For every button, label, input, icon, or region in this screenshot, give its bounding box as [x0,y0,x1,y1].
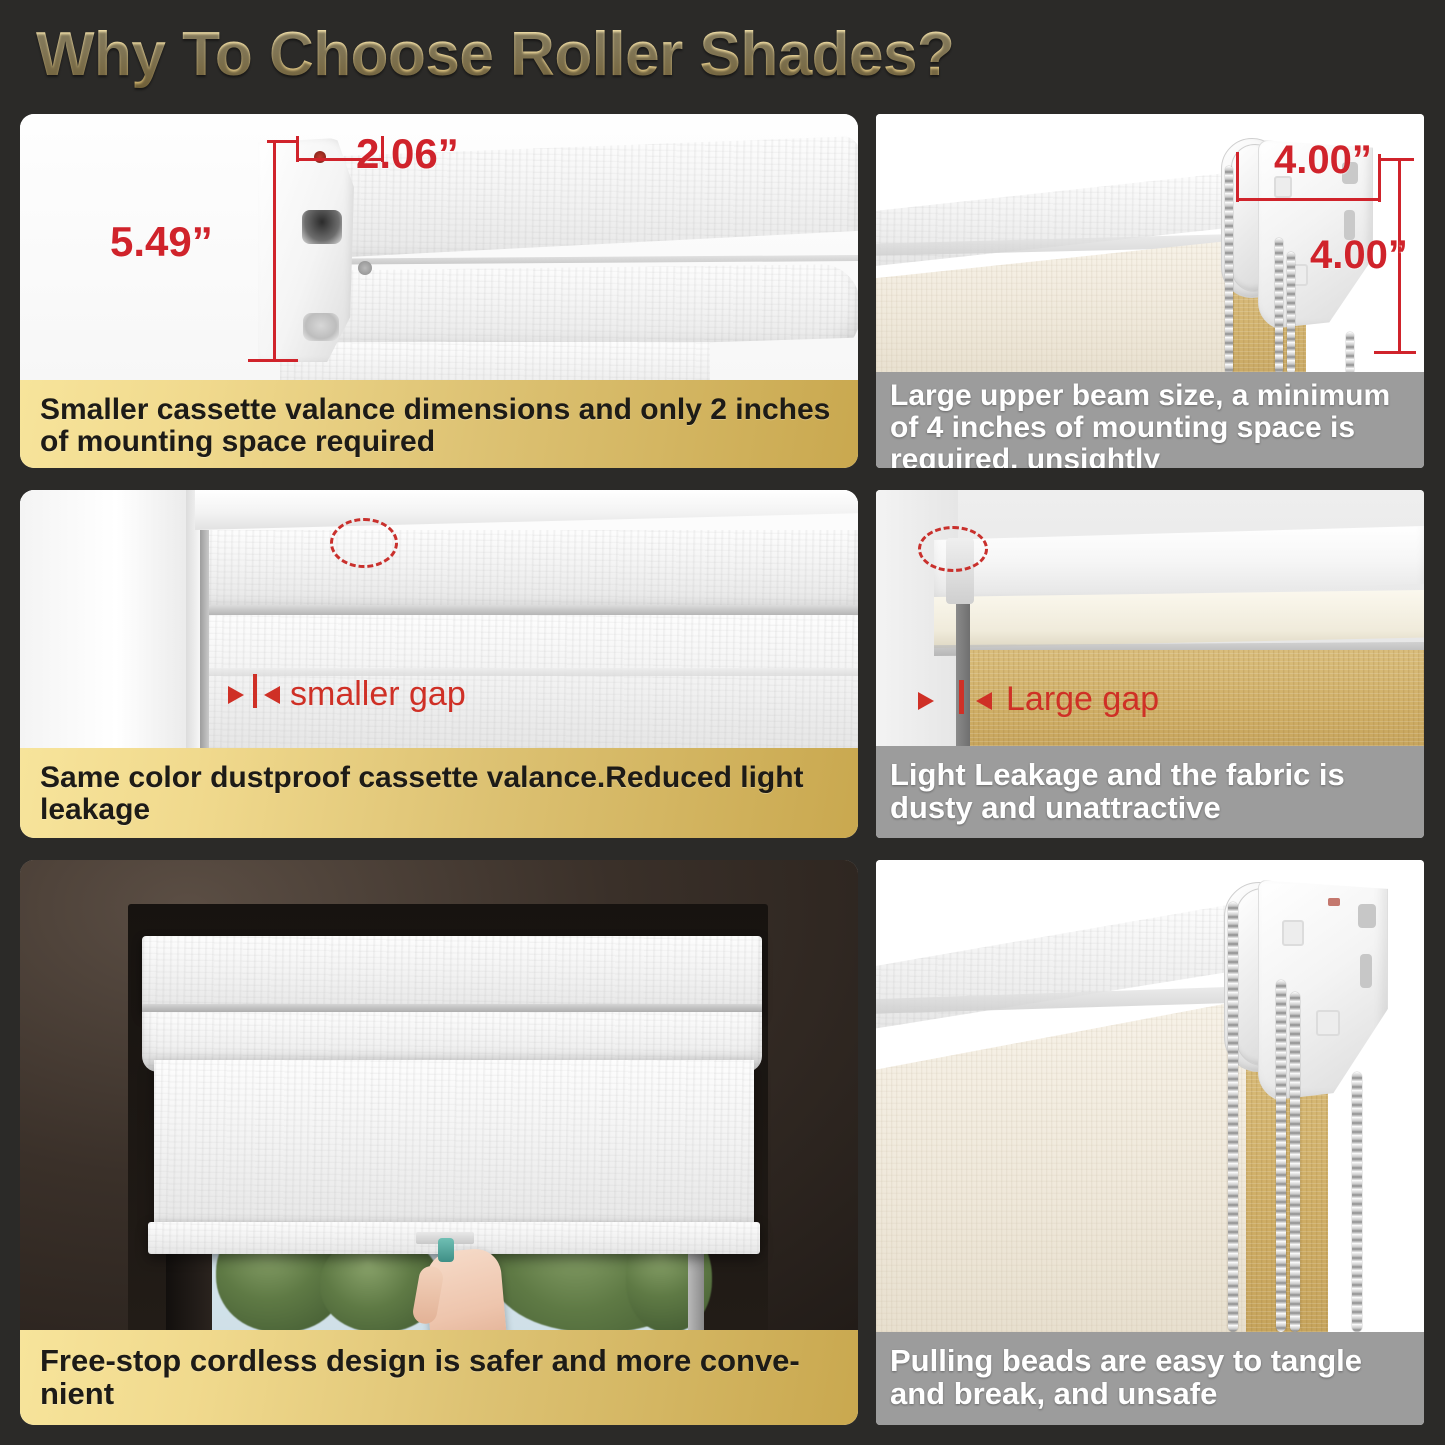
panel-pulling-beads: Pulling beads are easy to tangle and bre… [876,860,1424,1425]
gap-arrow-right-icon [976,692,992,710]
valance-headrail [142,936,762,1014]
bead-chain-middle [1275,238,1283,374]
bracket-screw-red [1328,898,1340,906]
bracket-slot-lower [303,313,339,341]
valance-bottom-edge [203,605,858,615]
beam-height-dimension-label: 4.00” [1310,233,1408,278]
pull-grip [438,1238,454,1262]
shade-fabric-cream [876,240,1238,374]
dustproof-valance-photo: smaller gap [20,490,858,748]
beam-height-tick-bottom [1374,351,1416,354]
gap-arrow-right-icon [264,686,280,704]
headrail-lip [934,590,1424,648]
bracket-keyhole-1 [1358,904,1376,928]
smaller-gap-label: smaller gap [290,675,466,714]
height-dim-line [273,140,276,362]
panel-dustproof-valance: smaller gap Same color dustproof cassett… [20,490,858,838]
window-frame-top [195,490,858,530]
height-dim-tick-top [267,140,297,143]
panel-light-leakage: Large gap Light Leakage and the fabric i… [876,490,1424,838]
bead-chain-middle-2 [1287,252,1295,374]
height-dimension-label: 5.49” [110,218,213,266]
beam-width-dim-line [1236,198,1381,201]
upper-beam-photo: 4.00” 4.00” [876,114,1424,374]
beam-width-dimension-label: 4.00” [1274,138,1372,183]
bracket-pin-top [314,151,326,163]
shade-fabric-main [154,1060,754,1232]
dashed-callout-circle [918,526,988,572]
panel-caption-dustproof-valance: Same color dustproof cassette valance.Re… [20,748,858,838]
page-title: Why To Choose Roller Shades? [36,16,1036,94]
panel-cordless-design: Free-stop cordless design is safer and m… [20,860,858,1425]
hanging-fabric [280,342,710,380]
shade-fabric-cream [876,998,1256,1332]
large-gap-label: Large gap [1006,680,1159,719]
panel-caption-cassette-dimensions: Smaller cassette valance dimensions and … [20,380,858,468]
bead-chain-middle-2 [1290,992,1300,1332]
bead-chain-middle-1 [1276,980,1286,1332]
panel-caption-large-upper-beam: Large upper beam size, a minimum of 4 in… [876,372,1424,468]
bracket-screw-middle [358,261,372,275]
bead-chain-left [1228,902,1238,1332]
infographic-page: Why To Choose Roller Shades? 2.06” [0,0,1445,1445]
bracket-keyhole-2 [1360,954,1372,988]
beam-height-tick-top [1380,158,1414,161]
light-leakage-photo: Large gap [876,490,1424,750]
height-dim-tick-bottom [248,359,298,362]
bracket-arrow-mark-1 [1282,920,1304,946]
gap-arrow-left-icon [228,686,244,704]
beam-width-tick-right [1378,154,1381,202]
gap-arrow-left-icon [918,692,934,710]
bracket-slot-upper [302,210,342,244]
beam-width-tick-left [1236,152,1239,202]
bead-chain-right [1346,332,1354,374]
cassette-photo: 2.06” 5.49” [20,114,858,380]
panel-cassette-dimensions: 2.06” 5.49” Smaller cassette valance dim… [20,114,858,468]
cassette-valance-face [203,530,858,608]
bead-chain-right [1352,1072,1362,1332]
window-frame-left [20,490,195,748]
dashed-callout-circle [330,518,398,568]
pulling-beads-photo [876,860,1424,1332]
panel-caption-light-leakage: Light Leakage and the fabric is dusty an… [876,746,1424,838]
panel-caption-cordless-design: Free-stop cordless design is safer and m… [20,1330,858,1425]
panel-large-upper-beam: 4.00” 4.00” Large upper beam size, a min… [876,114,1424,468]
gap-marker-bar [959,680,964,714]
gap-reveal-line [200,530,209,748]
bead-chain-left [1225,166,1233,374]
width-dimension-label: 2.06” [356,130,459,178]
bracket-arrow-mark-2 [1316,1010,1340,1036]
panel-caption-pulling-beads: Pulling beads are easy to tangle and bre… [876,1332,1424,1425]
gap-marker-bar [253,674,257,708]
cordless-design-photo [20,860,858,1332]
